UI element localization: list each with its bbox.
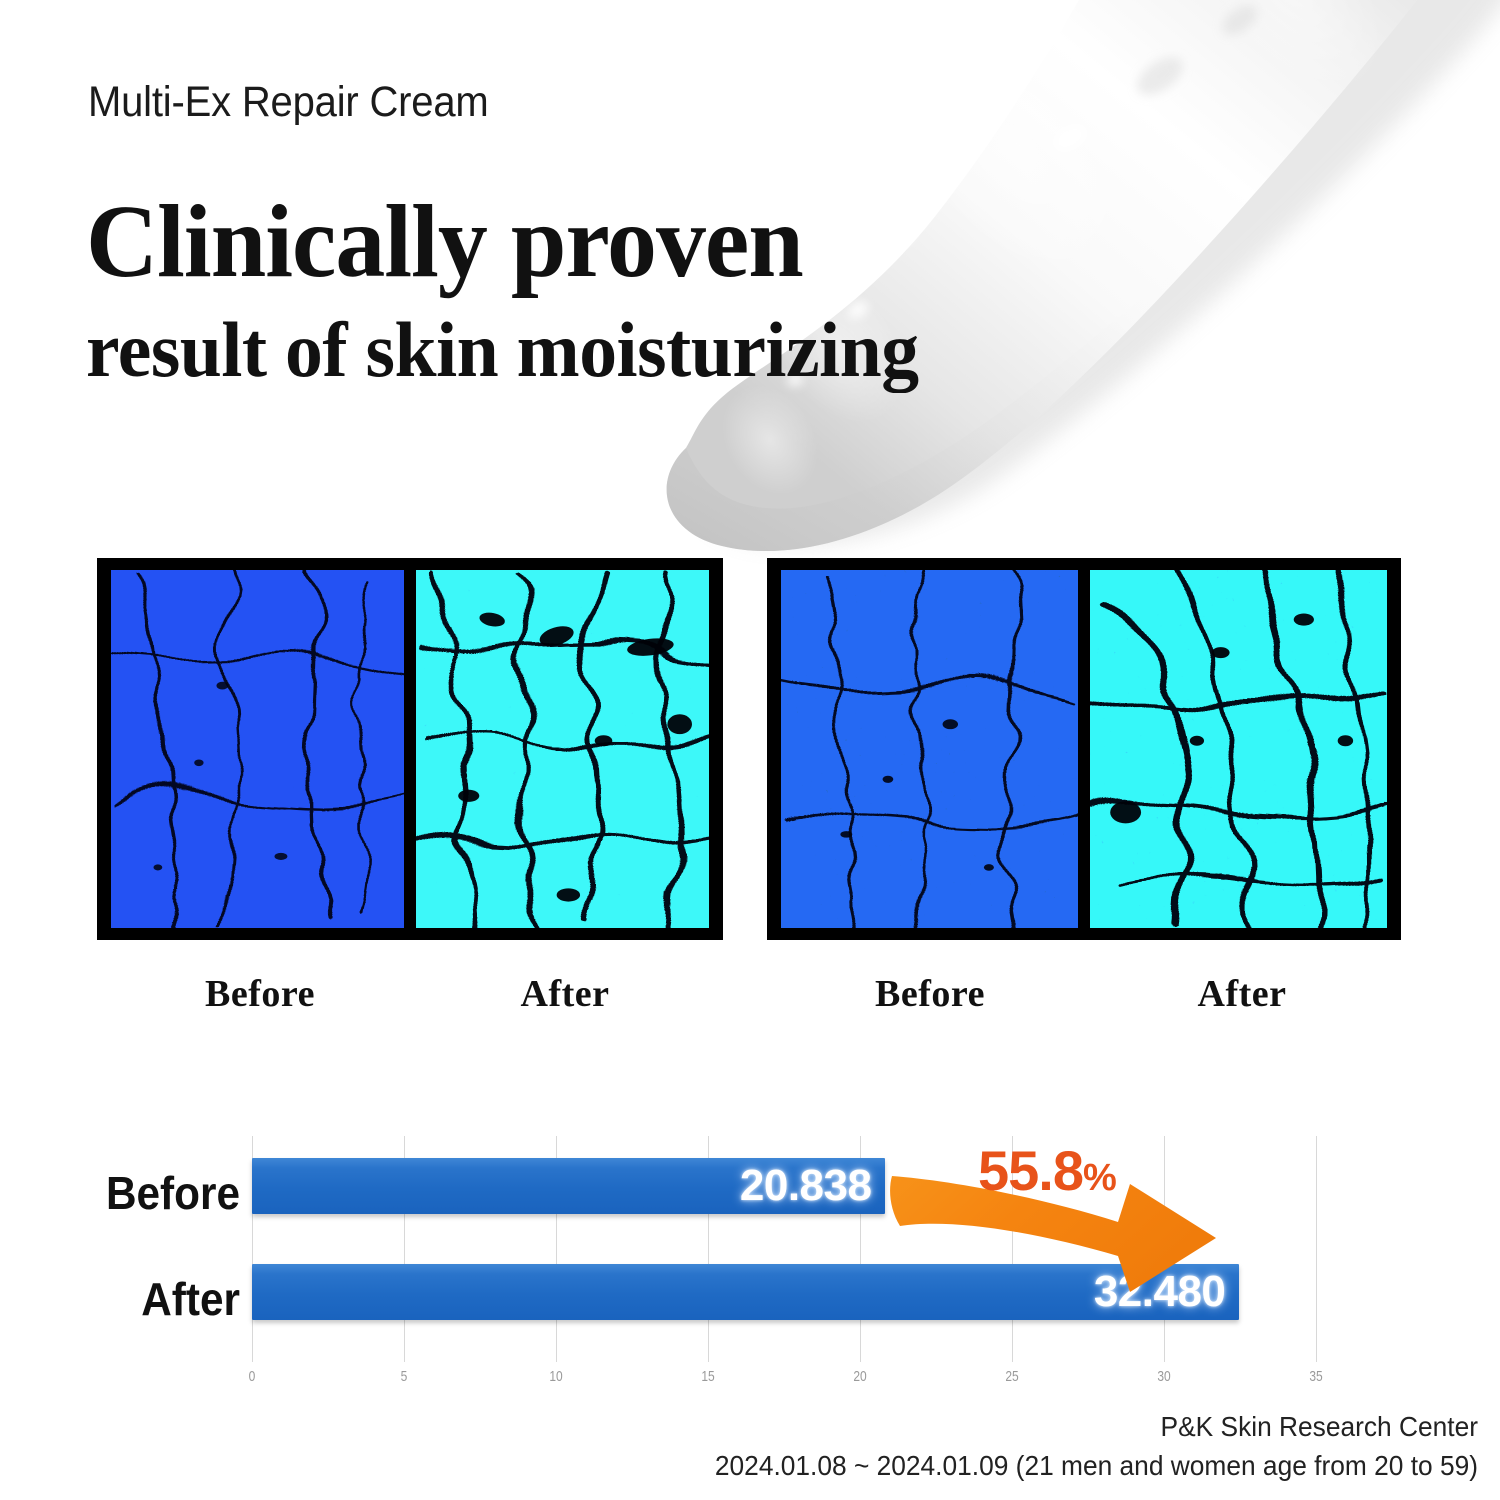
xtick-10: 10 <box>549 1368 562 1385</box>
bar-before: 20.838 <box>252 1158 885 1214</box>
chart-category-label-after: After <box>56 1272 240 1326</box>
xtick-0: 0 <box>249 1368 256 1385</box>
caption-before-2: Before <box>800 972 1060 1016</box>
micro-image-before-1 <box>111 570 404 928</box>
micro-image-after-1 <box>416 570 709 928</box>
xtick-25: 25 <box>1005 1368 1018 1385</box>
chart-category-label-before: Before <box>56 1166 240 1220</box>
percent-sign: % <box>1083 1157 1116 1199</box>
improvement-percentage-value: 55.8 <box>978 1139 1083 1202</box>
caption-after-1: After <box>435 972 695 1016</box>
micro-image-before-2 <box>781 570 1078 928</box>
study-period: 2024.01.08 ~ 2024.01.09 (21 men and wome… <box>350 1447 1478 1486</box>
improvement-percentage: 55.8% <box>978 1138 1116 1203</box>
caption-before-1: Before <box>130 972 390 1016</box>
xtick-35: 35 <box>1309 1368 1322 1385</box>
product-name: Multi-Ex Repair Cream <box>88 78 489 127</box>
moisture-bar-chart: Before After 20.838 32.480 55.8% 0 5 10 … <box>0 1120 1500 1400</box>
study-credit: P&K Skin Research Center 2024.01.08 ~ 20… <box>350 1408 1478 1485</box>
headline-line-2: result of skin moisturizing <box>86 308 1172 392</box>
caption-after-2: After <box>1112 972 1372 1016</box>
xtick-30: 30 <box>1157 1368 1170 1385</box>
headline-line-1: Clinically proven <box>86 190 1161 294</box>
comparison-panel-group-1 <box>97 558 723 940</box>
gridline-35 <box>1316 1136 1317 1362</box>
page-title: Clinically proven result of skin moistur… <box>86 190 1206 392</box>
study-organization: P&K Skin Research Center <box>350 1408 1478 1447</box>
comparison-panel-group-2 <box>767 558 1401 940</box>
product-detail-page: { "header": { "product_name": "Multi-Ex … <box>0 0 1500 1500</box>
xtick-20: 20 <box>853 1368 866 1385</box>
xtick-5: 5 <box>401 1368 408 1385</box>
bar-value-before: 20.838 <box>740 1161 872 1211</box>
xtick-15: 15 <box>701 1368 714 1385</box>
micro-image-after-2 <box>1090 570 1387 928</box>
